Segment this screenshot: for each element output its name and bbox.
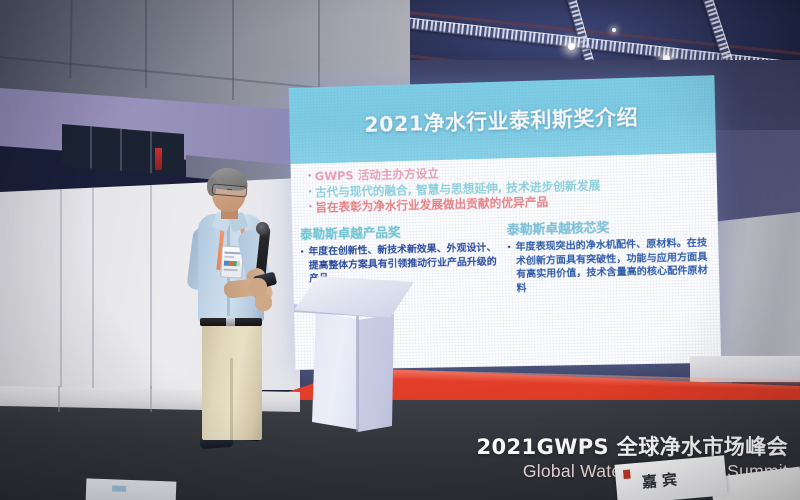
booth-seam — [92, 178, 94, 390]
award-body-text: 年度表现突出的净水机配件、原材料。在技术创新方面具有突破性，功能与应用方面具有高… — [515, 236, 711, 295]
banner-title-chinese: 2021GWPS 全球净水市场峰会 — [477, 435, 788, 459]
booth-seam — [150, 178, 152, 390]
wall-seam — [232, 0, 234, 100]
conference-photo-scene: 2021净水行业泰利斯奖介绍 • GWPS 活动主办方设立 • 古代与现代的融合… — [0, 0, 800, 500]
microphone-head-icon — [256, 222, 269, 235]
award-title: 泰勒斯卓越核芯奖 — [507, 214, 710, 238]
podium-body-left — [312, 312, 362, 430]
foreground-card — [86, 478, 177, 500]
speaker-person — [186, 168, 282, 473]
booth-seam — [150, 386, 152, 412]
card-mark — [112, 485, 126, 491]
wall-seam — [69, 0, 72, 78]
card-logo-icon — [623, 470, 631, 480]
badge-line — [224, 256, 234, 259]
right-booth-panels — [712, 212, 800, 362]
award-column-right: 泰勒斯卓越核芯奖 • 年度表现突出的净水机配件、原材料。在技术创新方面具有突破性… — [507, 214, 711, 296]
podium-body-right — [358, 314, 400, 432]
award-body-row: • 年度表现突出的净水机配件、原材料。在技术创新方面具有突破性，功能与应用方面具… — [507, 236, 711, 295]
badge-line — [224, 252, 240, 255]
booth-seam — [60, 178, 62, 390]
slide-bullet-list: • GWPS 活动主办方设立 • 古代与现代的融合, 智慧与思想延伸, 技术进步… — [305, 159, 708, 217]
pants-seam — [230, 358, 233, 440]
lectern-podium — [294, 276, 414, 431]
bullet-dot-icon: • — [305, 169, 315, 182]
stage-light-icon — [568, 43, 575, 50]
wall-seam — [145, 0, 147, 88]
badge-line — [224, 269, 238, 272]
podium-edge — [356, 314, 359, 432]
speaker-left-hand — [248, 278, 267, 297]
window-mullion — [90, 118, 92, 176]
red-wall-strip — [155, 148, 162, 170]
belt-buckle — [226, 318, 235, 326]
booth-seam — [58, 386, 60, 412]
stage-light-icon — [612, 28, 616, 32]
bullet-dot-icon: • — [305, 201, 315, 214]
bullet-dot-icon: • — [305, 185, 315, 198]
bullet-dot-icon: • — [507, 241, 515, 255]
award-title: 泰勒斯卓越产品奖 — [300, 219, 499, 243]
guest-name-card-text: 嘉宾 — [641, 468, 683, 492]
badge-logo-icon — [224, 261, 240, 267]
